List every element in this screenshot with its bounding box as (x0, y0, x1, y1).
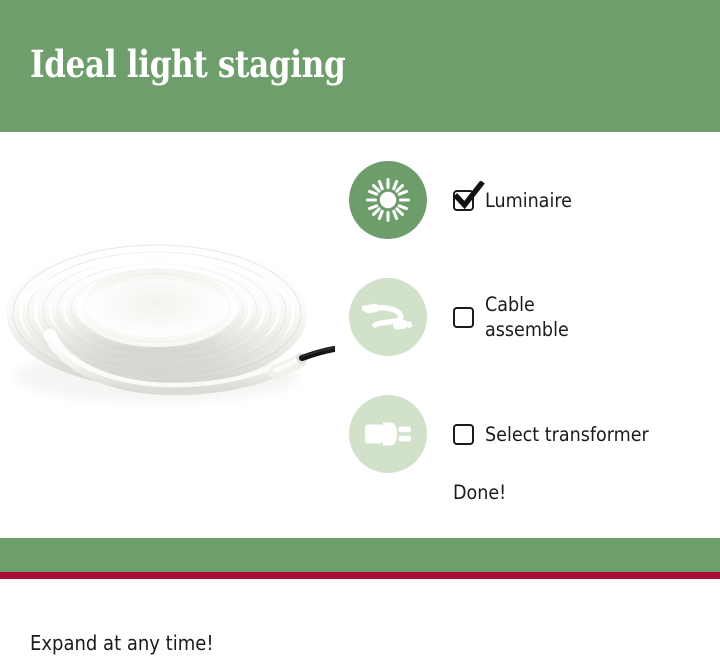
checkbox-luminaire[interactable] (453, 190, 474, 211)
checklist-item-label: Luminaire (485, 188, 572, 213)
sun-luminaire-icon (349, 161, 427, 239)
checkbox-select-transformer[interactable] (453, 424, 474, 445)
checklist-item-label: Select transformer (485, 422, 649, 447)
footer-red-accent-bar (0, 572, 720, 579)
product-image-coiled-led-strip (5, 237, 335, 412)
page-title: Ideal light staging (30, 41, 345, 87)
checkbox-box (453, 424, 474, 445)
header-banner: Ideal light staging (0, 0, 720, 132)
transformer-plug-icon (349, 395, 427, 473)
checklist: Luminaire C (349, 161, 720, 473)
main-content: Luminaire C (0, 132, 720, 538)
checklist-item-body: Luminaire (453, 161, 582, 239)
checklist-item-cable-assemble[interactable]: Cable assemble (349, 278, 720, 356)
done-text: Done! (453, 480, 506, 505)
checklist-item-select-transformer[interactable]: Select transformer (349, 395, 720, 473)
checkbox-cable-assemble[interactable] (453, 307, 474, 328)
footer-caption: Expand at any time! (30, 630, 214, 656)
checklist-item-body: Select transformer (453, 395, 667, 473)
led-strip-illustration (5, 237, 335, 412)
checkmark-icon (452, 181, 486, 211)
checklist-item-label: Cable assemble (485, 292, 569, 342)
checklist-item-luminaire[interactable]: Luminaire (349, 161, 720, 239)
footer-green-bar (0, 538, 720, 572)
cable-connector-icon (349, 278, 427, 356)
checkbox-box (453, 307, 474, 328)
checklist-item-body: Cable assemble (453, 278, 578, 356)
